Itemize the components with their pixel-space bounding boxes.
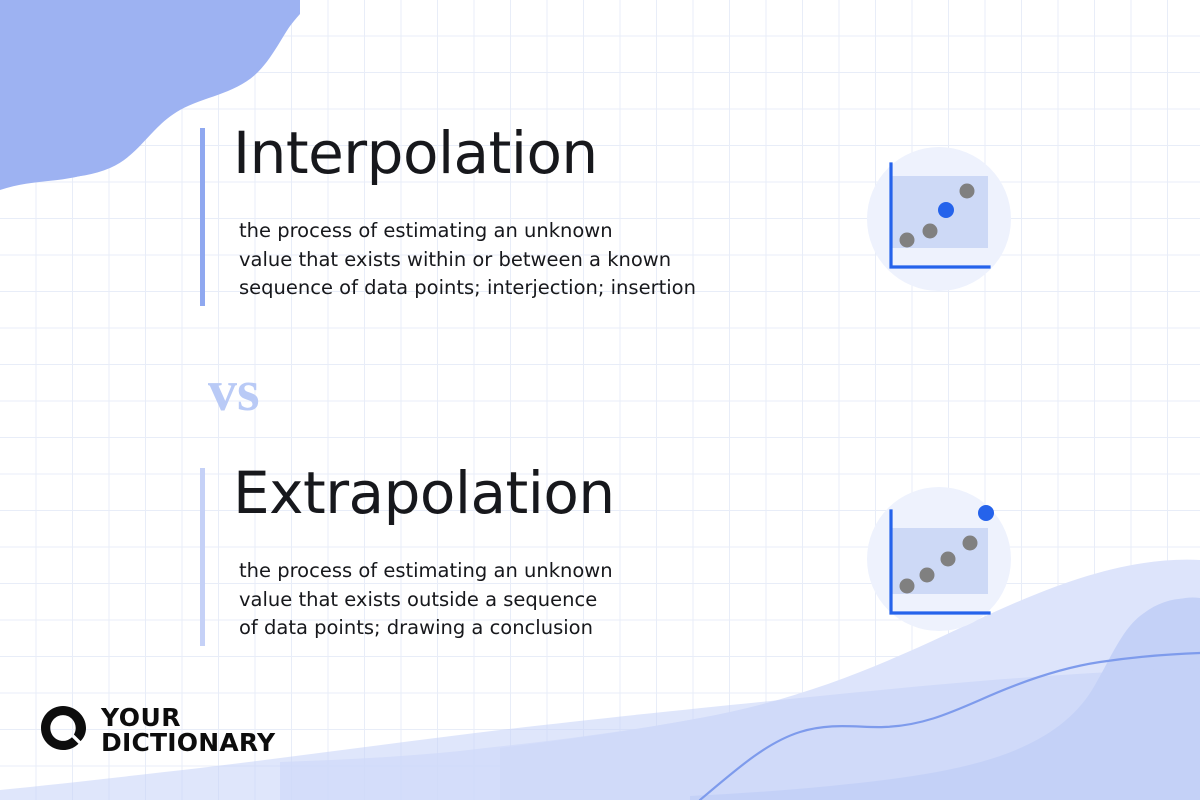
data-point [900,233,915,248]
content-layer: Interpolation the process of estimating … [0,0,1200,800]
accent-bar-extrapolation [200,468,205,646]
data-point [960,184,975,199]
data-point [920,568,935,583]
brand-logo-text: YOUR DICTIONARY [101,705,275,755]
data-point [963,536,978,551]
data-point [923,224,938,239]
infographic-canvas: Interpolation the process of estimating … [0,0,1200,800]
data-point [900,579,915,594]
versus-label: vs [208,362,260,420]
term-definition-extrapolation: the process of estimating an unknown val… [239,557,839,643]
comparison-item-extrapolation: Extrapolation the process of estimating … [200,468,840,648]
highlight-point [938,202,954,218]
interpolation-scatter-icon [853,133,1025,305]
comparison-item-interpolation: Interpolation the process of estimating … [200,128,840,308]
term-title-interpolation: Interpolation [233,124,598,182]
logo-line-2: DICTIONARY [101,730,275,755]
brand-logo[interactable]: YOUR DICTIONARY [40,705,275,755]
extrapolation-scatter-icon [853,473,1025,645]
yourdictionary-q-mark-icon [40,705,88,755]
term-definition-interpolation: the process of estimating an unknown val… [239,217,839,303]
logo-line-1: YOUR [101,705,275,730]
data-point [941,552,956,567]
accent-bar-interpolation [200,128,205,306]
highlight-point [978,505,994,521]
term-title-extrapolation: Extrapolation [233,464,615,522]
